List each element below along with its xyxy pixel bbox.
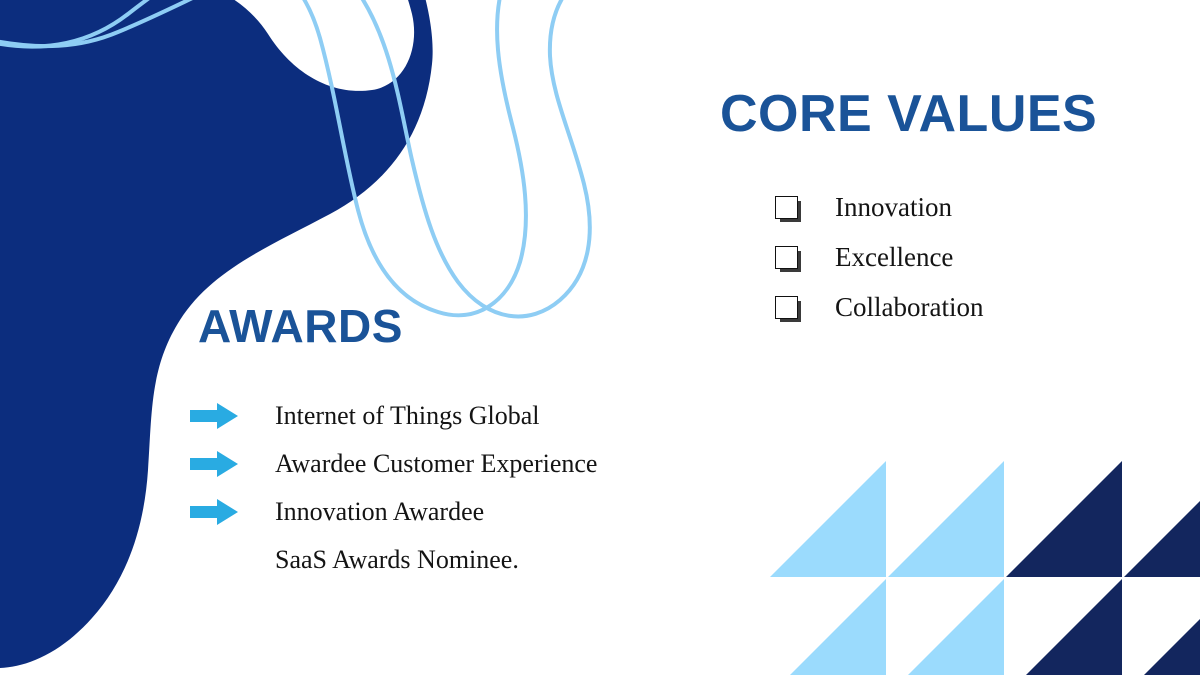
light-blue-curve-swoop [0, 0, 526, 315]
core-values-title: CORE VALUES [720, 88, 1097, 140]
triangle-cell [1006, 461, 1122, 577]
arrow-right-icon [190, 403, 252, 429]
awards-list: Internet of Things Global Awardee Custom… [190, 392, 710, 584]
award-item-innovation-awardee[interactable]: Innovation Awardee [190, 488, 710, 536]
arrow-right-icon [190, 499, 252, 525]
core-value-label: Excellence [798, 244, 953, 271]
checkbox-icon[interactable] [775, 296, 798, 319]
core-value-item-collaboration[interactable]: Collaboration [775, 282, 1105, 332]
award-label: SaaS Awards Nominee. [252, 547, 519, 573]
award-label: Awardee Customer Experience [252, 451, 597, 477]
award-label: Innovation Awardee [252, 499, 484, 525]
core-value-item-excellence[interactable]: Excellence [775, 232, 1105, 282]
triangle-cell [770, 461, 886, 577]
checkbox-icon[interactable] [775, 196, 798, 219]
core-value-label: Collaboration [798, 294, 983, 321]
light-blue-curve-arc [262, 0, 606, 316]
award-label: Internet of Things Global [252, 403, 540, 429]
triangle-cell [888, 461, 1004, 577]
core-value-item-innovation[interactable]: Innovation [775, 182, 1105, 232]
core-value-label: Innovation [798, 194, 952, 221]
award-item-customer-experience[interactable]: Awardee Customer Experience [190, 440, 710, 488]
slide-canvas: CORE VALUES Innovation Excellence Collab… [0, 0, 1200, 675]
triangle-cell [1124, 461, 1200, 577]
award-item-iot-global[interactable]: Internet of Things Global [190, 392, 710, 440]
awards-title: AWARDS [198, 303, 403, 349]
core-values-list: Innovation Excellence Collaboration [775, 182, 1105, 332]
light-blue-curve-line [0, 0, 262, 46]
checkbox-icon[interactable] [775, 246, 798, 269]
triangle-cell [1124, 579, 1200, 675]
triangle-cell [1006, 579, 1122, 675]
arrow-right-icon [190, 451, 252, 477]
triangle-cell [888, 579, 1004, 675]
triangle-cell [770, 579, 886, 675]
award-item-saas-nominee[interactable]: SaaS Awards Nominee. [190, 536, 710, 584]
